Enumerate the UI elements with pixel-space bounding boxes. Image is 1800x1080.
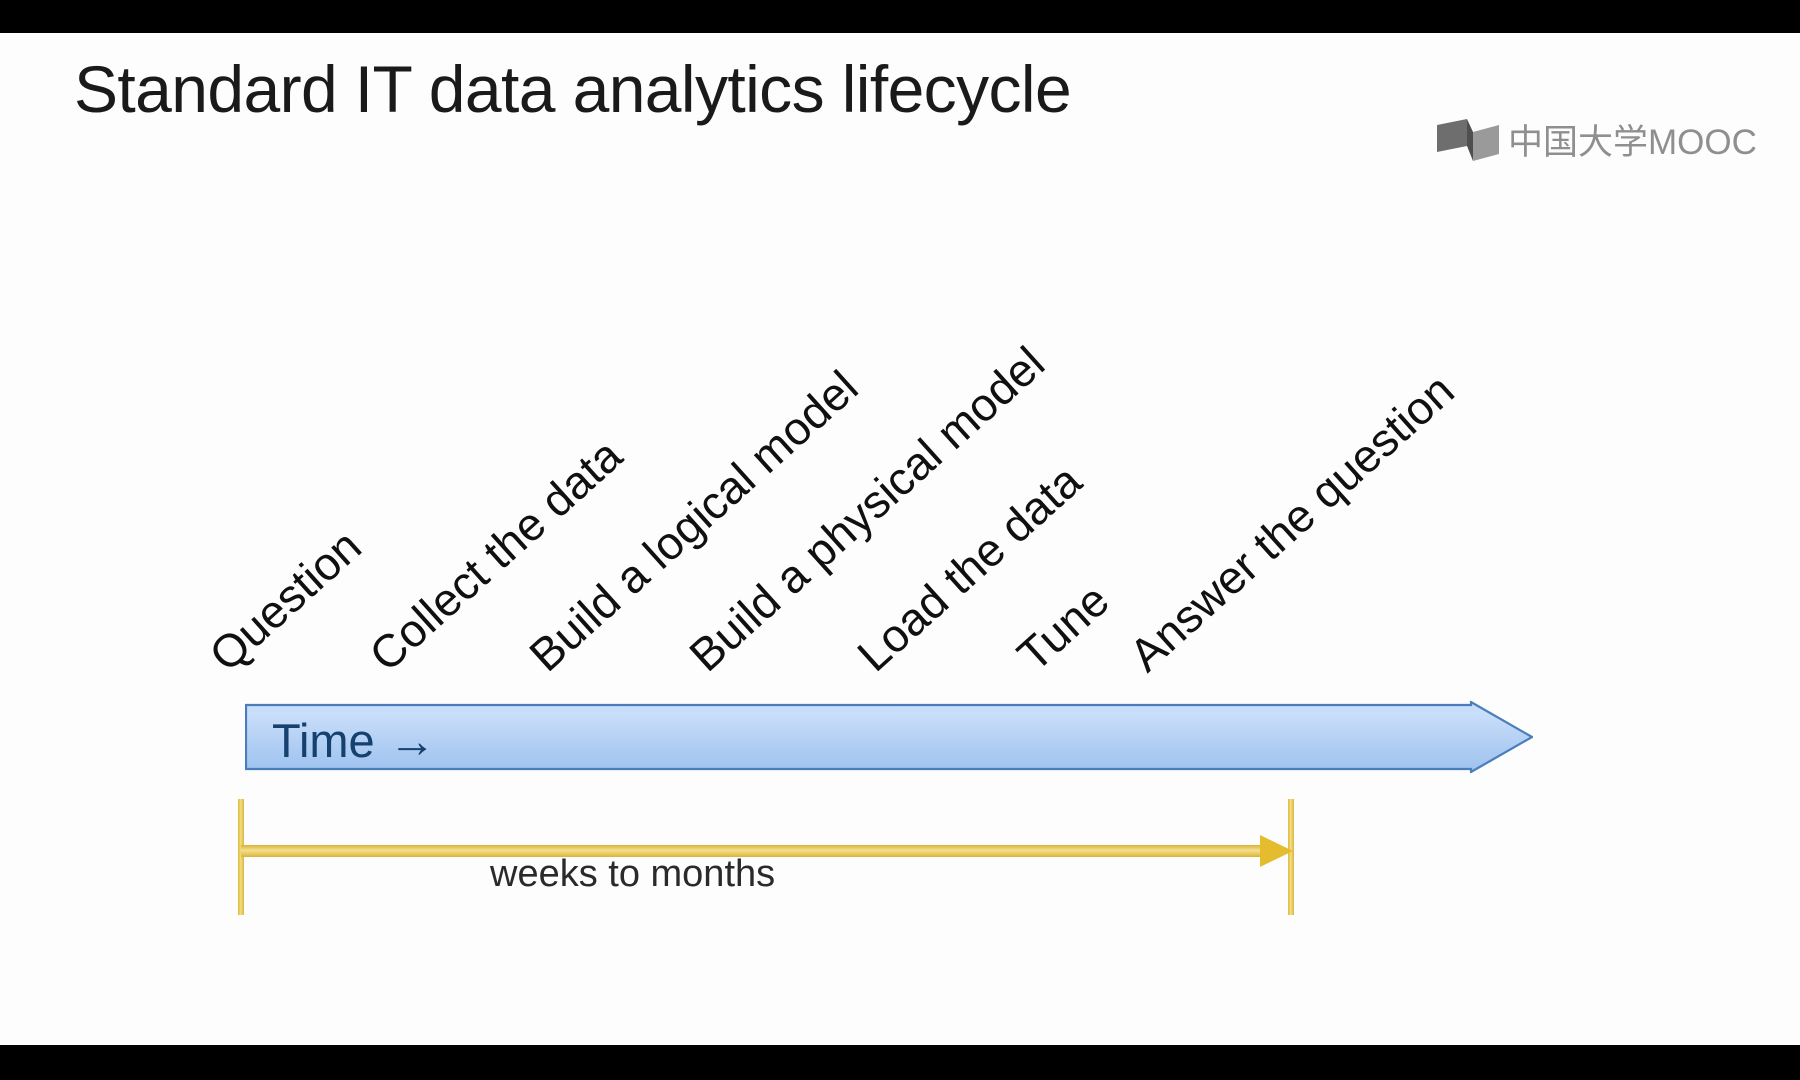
mooc-logo: 中国大学MOOC [1437, 119, 1757, 166]
letterbox-top-bar [0, 0, 1800, 33]
slide-stage: Standard IT data analytics lifecycle 中国大… [0, 0, 1800, 1080]
duration-label: weeks to months [490, 855, 775, 893]
open-book-icon [1437, 119, 1499, 166]
stage-label-answer-the-question: Answer the question [1121, 366, 1462, 679]
page-title: Standard IT data analytics lifecycle [74, 56, 1071, 122]
right-arrow-icon: → [389, 714, 436, 767]
mooc-logo-text: 中国大学MOOC [1508, 125, 1757, 160]
time-arrow-label-text: Time [272, 714, 375, 767]
time-arrow-shape [245, 701, 1533, 773]
stage-label-tune: Tune [1009, 576, 1116, 679]
slide-canvas: Standard IT data analytics lifecycle 中国大… [0, 33, 1800, 1045]
stage-label-question: Question [201, 522, 369, 679]
time-arrow-label: Time→ [272, 717, 436, 764]
letterbox-bottom-bar [0, 1045, 1800, 1080]
